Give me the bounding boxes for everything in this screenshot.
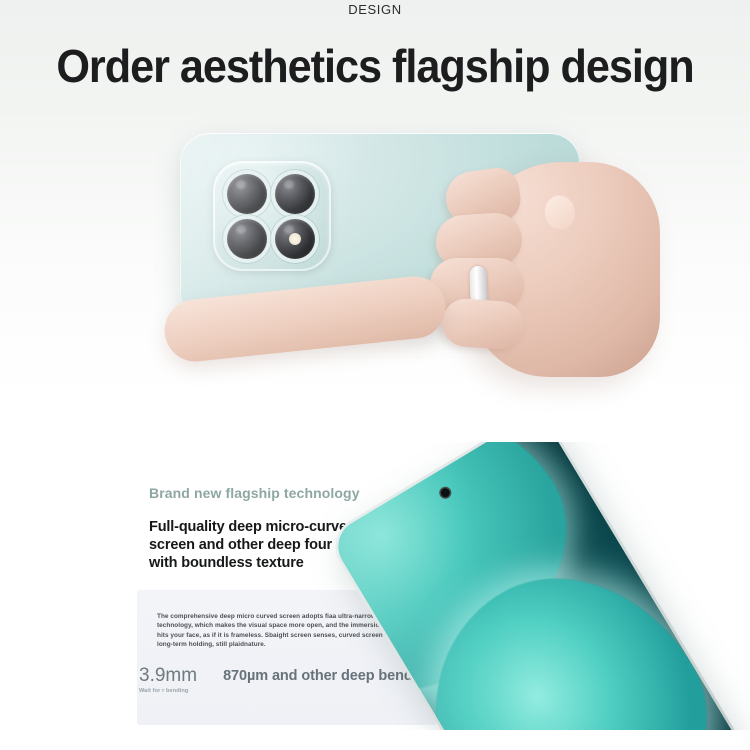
hero-section: DESIGN Order aesthetics flagship design …: [0, 0, 750, 400]
section-spacer: [0, 418, 750, 442]
thickness-value: 3.9mm: [139, 665, 197, 687]
thickness-caption: Wait for r bending: [139, 688, 197, 694]
section-eyebrow-label: DESIGN: [0, 2, 750, 17]
phone-frame: [324, 440, 750, 750]
feature-section: Brand new flagship technology Full-quali…: [125, 440, 750, 750]
hand-illustration: [350, 140, 670, 400]
finger: [440, 297, 525, 351]
screen-glare: [329, 440, 748, 750]
thickness-spec: 3.9mm Wait for r bending: [139, 665, 197, 694]
camera-flash-icon: [275, 219, 315, 259]
product-landing-page: DESIGN Order aesthetics flagship design …: [0, 0, 750, 750]
feature-kicker: Brand new flagship technology: [149, 485, 360, 501]
curved-screen-phone-image: [370, 440, 750, 750]
camera-lens-icon: [275, 174, 315, 214]
camera-lens-icon: [227, 174, 267, 214]
page-title: Order aesthetics flagship design: [23, 38, 728, 94]
phone-screen: [329, 440, 748, 750]
camera-island: [213, 161, 331, 271]
hero-product-image: MI: [150, 120, 670, 400]
camera-lens-icon: [227, 219, 267, 259]
